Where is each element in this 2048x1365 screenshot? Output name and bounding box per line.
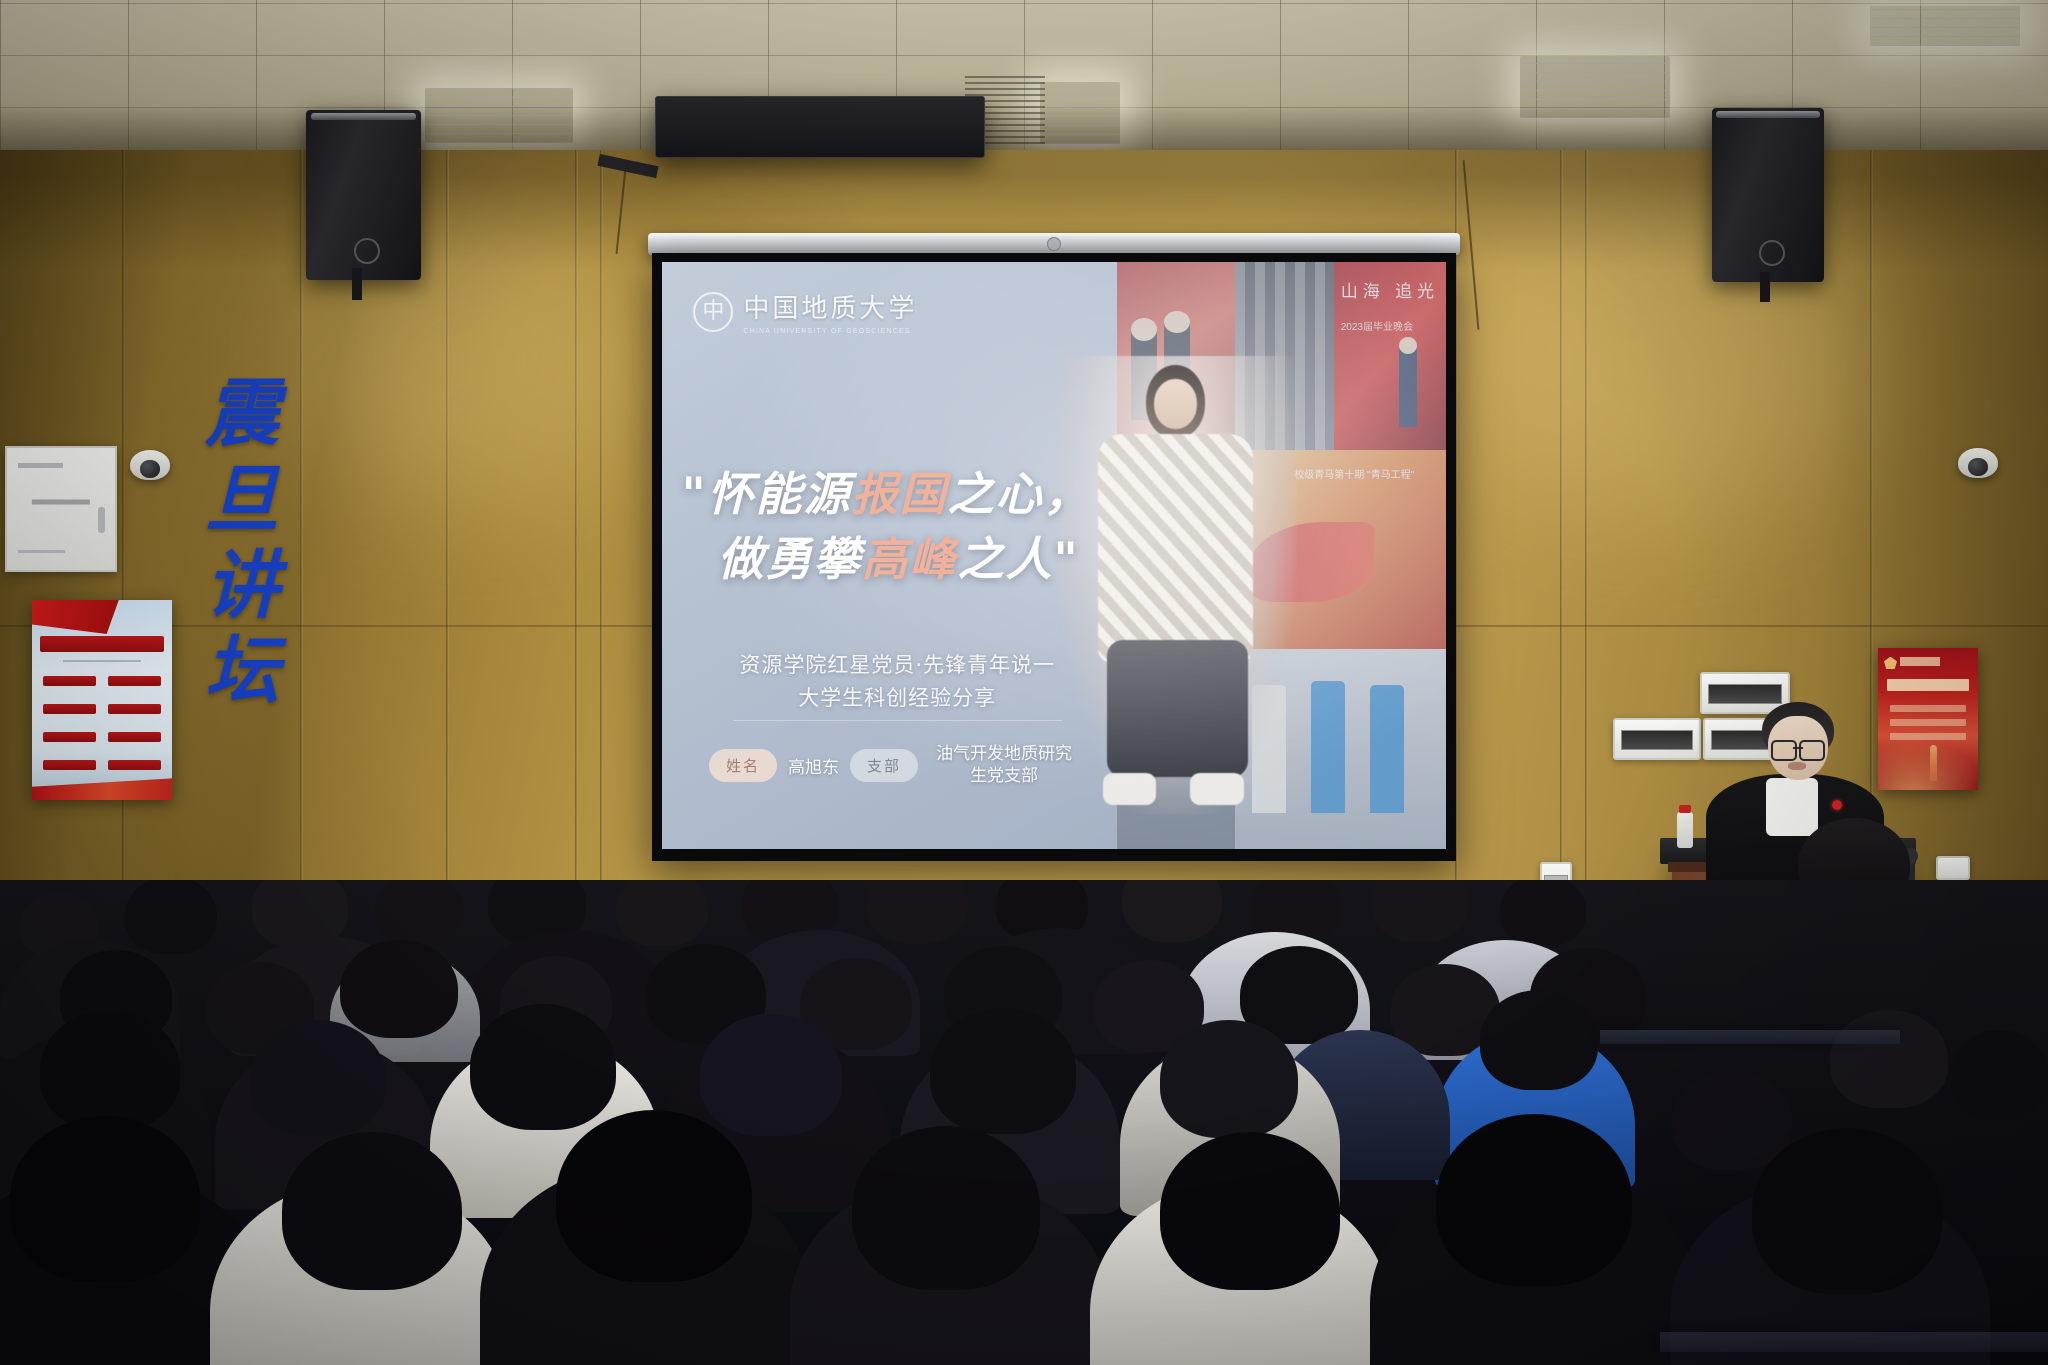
- audience-head: [1122, 880, 1222, 942]
- audience-head: [125, 880, 217, 954]
- seat-bench-edge: [1600, 1030, 1900, 1044]
- headline-line-1: "怀能源报国之心，: [682, 462, 1168, 527]
- audience-head: [1160, 1020, 1298, 1138]
- audience-head: [1950, 1030, 2048, 1120]
- pa-speaker-right: [1712, 108, 1824, 282]
- poster-item-2: [108, 676, 161, 686]
- poster-mini-title: [1900, 657, 1940, 667]
- poster-socialist-core-values: [1878, 648, 1978, 790]
- poster-subline: [63, 660, 141, 662]
- pa-speaker-left: [306, 110, 421, 280]
- audience-front-head: [556, 1110, 752, 1282]
- wall-calligraphy-zhendan-forum: 震旦讲坛: [205, 372, 297, 715]
- poster-item-1: [43, 676, 96, 686]
- audience-section: [0, 880, 2048, 1365]
- slide-headline: "怀能源报国之心， 做勇攀高峰之人": [682, 462, 1168, 593]
- poster-main-title-strip: [1887, 679, 1969, 690]
- poster-emblem-icon: [1884, 657, 1897, 670]
- poster-title-banner: [40, 636, 163, 652]
- poster-item-3: [43, 704, 96, 714]
- wall-panel-seam-8: [1585, 150, 1588, 980]
- slide-divider: [733, 720, 1062, 721]
- audience-head: [1372, 880, 1468, 942]
- cabinet-footer-strip: [18, 550, 66, 553]
- poster-teacher-code-of-conduct: [32, 600, 172, 800]
- headline-line-2: 做勇攀高峰之人": [682, 527, 1168, 592]
- headline-l2-part-1: 做勇攀: [718, 532, 862, 586]
- poster-glow-graphic: [1878, 739, 1978, 790]
- headline-l1-part-3: 之心，: [948, 467, 1092, 521]
- breaker-window-left: [1621, 730, 1693, 750]
- cctv-dome-camera-left: [130, 450, 170, 480]
- wall-panel-seam-7: [1560, 150, 1563, 980]
- headline-l2-accent: 高峰: [862, 532, 958, 586]
- network-equipment-cabinet: [5, 446, 117, 572]
- audience-front-head: [282, 1132, 462, 1290]
- poster-values-row-2: [1890, 719, 1966, 726]
- pa-speaker-right-stem: [1760, 272, 1770, 302]
- wall-panel-seam-3: [446, 150, 449, 980]
- slide-surface: 山海 追光 2023届毕业晚会 校级青马第十期 "青马工程": [662, 262, 1446, 849]
- audience-head: [700, 1014, 842, 1136]
- audience-front-head: [1752, 1128, 1942, 1294]
- slide-meta-row: 姓名 高旭东 支部 油气开发地质研究生党支部: [709, 743, 1117, 787]
- cabinet-logo-strip: [18, 463, 63, 468]
- audience-head: [40, 1010, 180, 1130]
- audience-front-head: [10, 1116, 200, 1282]
- audience-head: [616, 880, 708, 946]
- pa-speaker-left-stem: [352, 268, 362, 300]
- subtitle-line-2: 大学生科创经验分享: [709, 682, 1085, 715]
- audience-head: [930, 1008, 1076, 1134]
- presenter-mouth: [1788, 762, 1806, 770]
- display-panel-above-screen: [655, 96, 985, 158]
- audience-head: [866, 880, 968, 944]
- lecture-hall-photo: 山海 追光 2023届毕业晚会 校级青马第十期 "青马工程": [0, 0, 2048, 1365]
- audience-head: [1830, 1010, 1948, 1108]
- screen-roller-knob: [1047, 237, 1061, 251]
- cabinet-latch: [98, 507, 105, 533]
- audience-head: [375, 880, 463, 946]
- audience-head: [470, 1004, 616, 1130]
- screen-roller-case[interactable]: [648, 233, 1460, 255]
- meta-pill-branch-label: 支部: [850, 749, 918, 782]
- university-name-en: CHINA UNIVERSITY OF GEOSCIENCES: [743, 328, 917, 335]
- wall-panel-seam-5: [600, 150, 603, 980]
- headline-l1-accent: 报国: [852, 467, 948, 521]
- poster-item-4: [108, 704, 161, 714]
- audience-front-head: [852, 1126, 1040, 1290]
- headline-l1-part-1: "怀能源: [682, 467, 852, 521]
- audience-front-head: [1160, 1132, 1340, 1290]
- meta-value-branch: 油气开发地质研究生党支部: [929, 743, 1079, 787]
- audience-front-head: [1436, 1114, 1632, 1286]
- university-name-cn: 中国地质大学: [743, 288, 917, 325]
- audience-head: [250, 1020, 386, 1136]
- headline-l2-part-3: 之人": [958, 532, 1080, 586]
- meta-pill-name-label: 姓名: [709, 749, 777, 782]
- poster-item-6: [108, 732, 161, 742]
- glasses-bridge: [1793, 747, 1803, 749]
- audience-head: [340, 940, 458, 1038]
- poster-values-row-1: [1890, 705, 1966, 712]
- cabinet-label-strip: [32, 499, 90, 504]
- presenter-party-pin: [1832, 800, 1842, 810]
- audience-head: [1672, 1070, 1792, 1170]
- cctv-dome-camera-right: [1958, 448, 1998, 478]
- water-bottle: [1677, 812, 1693, 848]
- slide-university-logo: 中 中国地质大学 CHINA UNIVERSITY OF GEOSCIENCES: [693, 288, 917, 335]
- presenter-glasses-icon: [1771, 740, 1825, 758]
- ceiling-light-4: [1870, 6, 2020, 46]
- wall-panel-seam-2: [300, 150, 303, 980]
- poster-item-7: [43, 760, 96, 770]
- poster-item-8: [108, 760, 161, 770]
- university-seal-icon: 中: [693, 292, 733, 332]
- breaker-panel-left: [1613, 718, 1701, 760]
- audience-head: [1500, 880, 1586, 946]
- slide-subtitle: 资源学院红星党员·先锋青年说一 大学生科创经验分享: [709, 649, 1085, 714]
- seal-glyph: 中: [702, 301, 724, 323]
- meta-value-name: 高旭东: [788, 753, 839, 778]
- poster-footer-graphic: [32, 776, 172, 800]
- subtitle-line-1: 资源学院红星党员·先锋青年说一: [709, 649, 1085, 682]
- wall-panel-seam-4: [575, 150, 578, 980]
- poster-item-5: [43, 732, 96, 742]
- seat-bench-edge: [1660, 1332, 2048, 1352]
- projection-screen[interactable]: 山海 追光 2023届毕业晚会 校级青马第十期 "青马工程": [652, 253, 1456, 861]
- poster-flag-graphic: [32, 600, 119, 634]
- audience-head: [1480, 990, 1598, 1090]
